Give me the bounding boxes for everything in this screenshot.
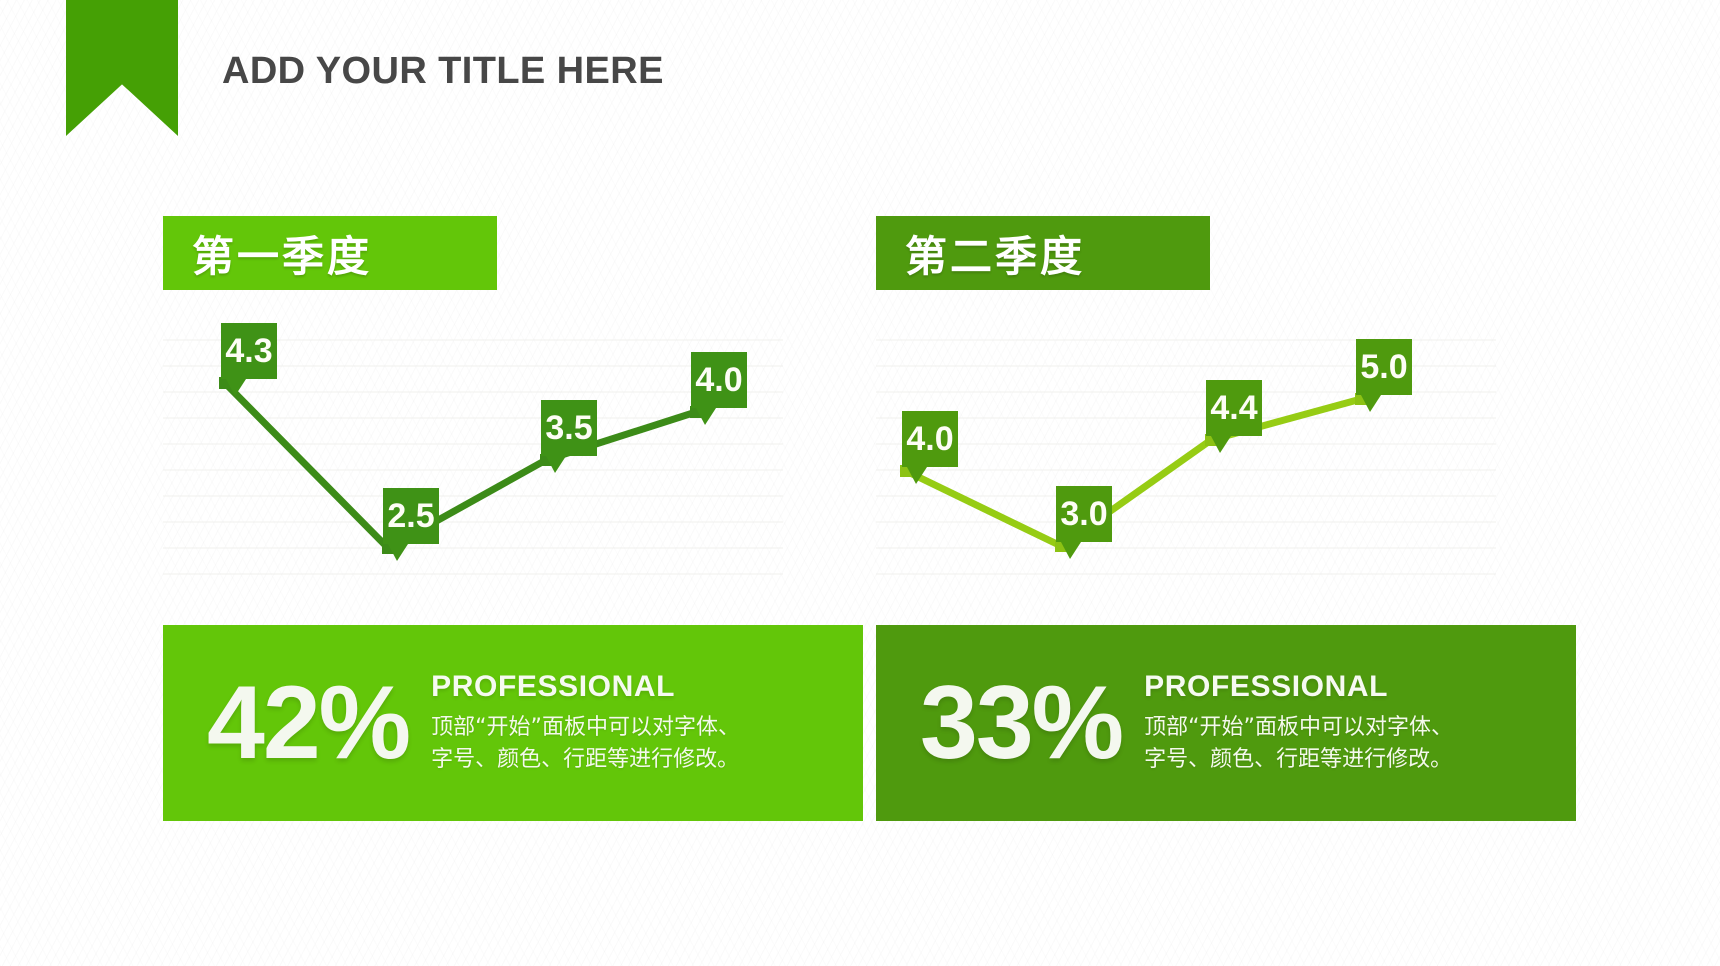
stat-body-first: 顶部“开始”面板中可以对字体、 字号、颜色、行距等进行修改。 [431,712,740,776]
stat-heading-first: PROFESSIONAL [431,670,740,704]
callout-pointer-icon [696,408,716,425]
quarter-badge-first-label: 第一季度 [192,223,372,284]
callout-pointer-icon [388,544,408,561]
chart-2-datalabel-4-text: 5.0 [1360,348,1407,387]
chart-1-markers [219,377,702,554]
stat-panel-second: 33% PROFESSIONAL 顶部“开始”面板中可以对字体、 字号、颜色、行… [876,625,1576,821]
chart-2-datalabel-2: 3.0 [1056,486,1112,542]
chart-1-datalabel-2-text: 2.5 [387,497,434,536]
stat-body-first-line-1: 顶部“开始”面板中可以对字体、 [431,712,740,744]
stat-body-second-line-2: 字号、颜色、行距等进行修改。 [1144,744,1453,776]
callout-pointer-icon [546,456,566,473]
callout-pointer-icon [1061,542,1081,559]
line-chart-second-quarter: 4.0 3.0 4.4 5.0 [876,330,1516,602]
stat-heading-second: PROFESSIONAL [1144,670,1453,704]
callout-pointer-icon [1361,395,1381,412]
callout-pointer-icon [1211,436,1231,453]
chart-2-datalabel-3: 4.4 [1206,380,1262,436]
callout-pointer-icon [907,467,927,484]
chart-2-datalabel-2-text: 3.0 [1060,495,1107,534]
chart-2-datalabel-3-text: 4.4 [1210,389,1257,428]
page-title: ADD YOUR TITLE HERE [222,50,664,93]
chart-2-datalabel-1-text: 4.0 [906,420,953,459]
chart-1-datalabel-1-text: 4.3 [225,332,272,371]
chart-1-datalabel-1: 4.3 [221,323,277,379]
chart-2-datalabel-4: 5.0 [1356,339,1412,395]
stat-percent-second: 33% [920,671,1122,775]
line-chart-first-quarter: 4.3 2.5 3.5 4.0 [163,330,803,602]
callout-pointer-icon [226,379,246,396]
quarter-badge-second-label: 第二季度 [905,223,1085,284]
quarter-badge-second: 第二季度 [876,216,1210,290]
stat-body-second-line-1: 顶部“开始”面板中可以对字体、 [1144,712,1453,744]
quarter-badge-first: 第一季度 [163,216,497,290]
chart-1-datalabel-3: 3.5 [541,400,597,456]
chart-1-datalabel-3-text: 3.5 [545,409,592,448]
chart-1-datalabel-2: 2.5 [383,488,439,544]
stat-body-first-line-2: 字号、颜色、行距等进行修改。 [431,744,740,776]
chart-1-series-line [225,383,696,548]
bookmark-ribbon-icon [66,0,178,136]
chart-2-plot [876,330,1516,602]
chart-2-series-line [906,399,1361,546]
chart-1-datalabel-4-text: 4.0 [695,361,742,400]
chart-2-datalabel-1: 4.0 [902,411,958,467]
chart-1-datalabel-4: 4.0 [691,352,747,408]
stat-body-second: 顶部“开始”面板中可以对字体、 字号、颜色、行距等进行修改。 [1144,712,1453,776]
stat-panel-first: 42% PROFESSIONAL 顶部“开始”面板中可以对字体、 字号、颜色、行… [163,625,863,821]
stat-percent-first: 42% [207,671,409,775]
